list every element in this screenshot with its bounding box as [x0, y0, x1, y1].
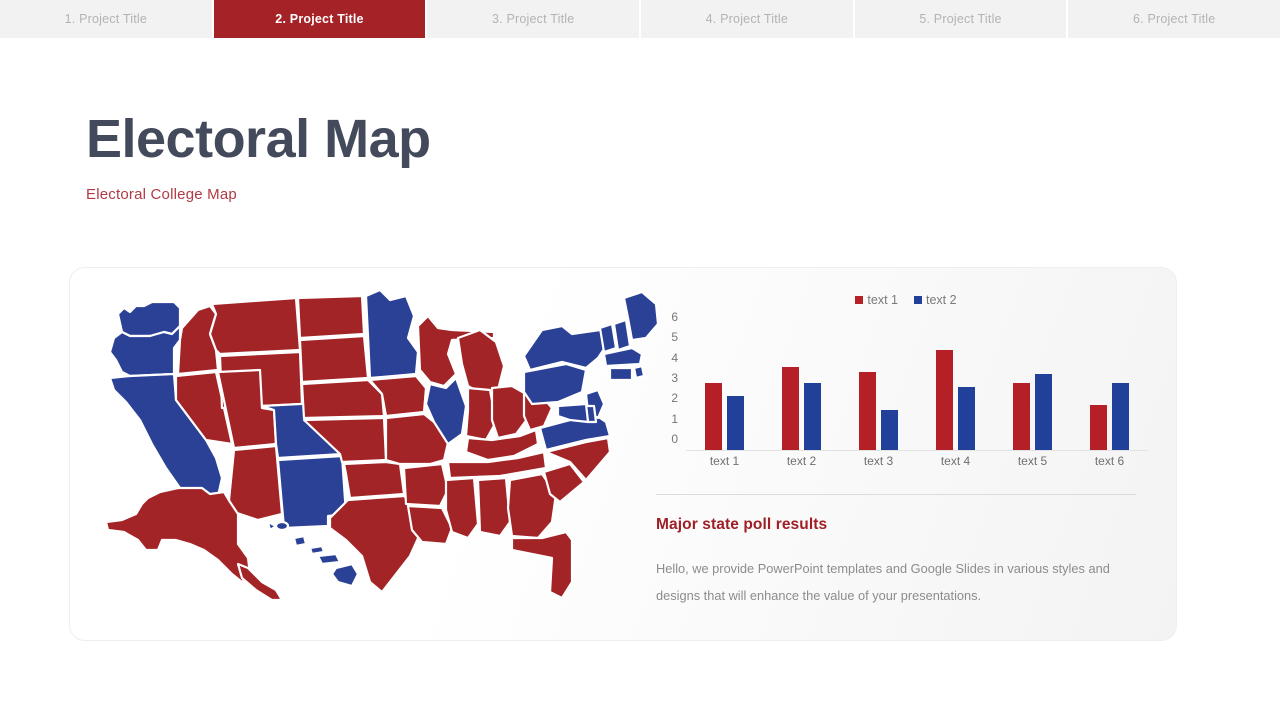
page-title: Electoral Map [86, 110, 431, 169]
y-tick-3: 3 [671, 372, 678, 384]
state-fl [512, 532, 572, 598]
state-mt [210, 298, 300, 354]
bar-series-1[interactable] [1090, 405, 1107, 450]
bar-series-2[interactable] [727, 396, 744, 450]
x-tick-label: text 3 [840, 454, 917, 468]
chart-bars-area [686, 316, 1148, 451]
state-ak [106, 488, 250, 582]
bar-series-2[interactable] [1112, 383, 1129, 450]
us-electoral-map[interactable] [100, 282, 690, 632]
state-mn [366, 290, 418, 378]
bar-series-1[interactable] [1013, 383, 1030, 450]
poll-bar-chart: text 1 text 2 6 5 4 3 2 1 0 text 1text 2… [656, 290, 1156, 495]
info-body: Hello, we provide PowerPoint templates a… [656, 556, 1138, 610]
tab-project-4[interactable]: 4. Project Title [641, 0, 855, 38]
state-ms [446, 478, 478, 538]
bar-series-2[interactable] [958, 387, 975, 450]
y-tick-1: 1 [671, 413, 678, 425]
state-nh [614, 320, 630, 350]
legend-item-series-2: text 2 [914, 293, 957, 307]
state-az [228, 446, 282, 520]
tab-project-3[interactable]: 3. Project Title [427, 0, 641, 38]
x-tick-label: text 4 [917, 454, 994, 468]
tab-project-2[interactable]: 2. Project Title [214, 0, 428, 38]
legend-swatch-blue [914, 296, 922, 304]
bar-series-1[interactable] [782, 367, 799, 450]
state-ar [404, 464, 448, 506]
legend-swatch-red [855, 296, 863, 304]
legend-item-series-1: text 1 [855, 293, 898, 307]
bar-group [763, 316, 840, 450]
y-tick-6: 6 [671, 311, 678, 323]
bar-group [994, 316, 1071, 450]
tab-project-5[interactable]: 5. Project Title [855, 0, 1069, 38]
bar-group [1071, 316, 1148, 450]
us-map-svg [100, 282, 690, 632]
y-tick-2: 2 [671, 392, 678, 404]
state-ct [610, 368, 632, 380]
legend-label-series-2: text 2 [926, 293, 957, 307]
chart-y-axis: 6 5 4 3 2 1 0 [656, 316, 678, 450]
state-wa [118, 302, 180, 336]
y-tick-0: 0 [671, 433, 678, 445]
bar-series-2[interactable] [881, 410, 898, 450]
x-tick-label: text 6 [1071, 454, 1148, 468]
state-ok [344, 462, 404, 498]
bar-group [840, 316, 917, 450]
x-tick-label: text 5 [994, 454, 1071, 468]
chart-x-axis: text 1text 2text 3text 4text 5text 6 [686, 454, 1148, 468]
chart-plot: 6 5 4 3 2 1 0 text 1text 2text 3text 4te… [656, 316, 1156, 486]
bar-series-2[interactable] [804, 383, 821, 450]
bar-series-1[interactable] [859, 372, 876, 450]
tab-project-6[interactable]: 6. Project Title [1068, 0, 1280, 38]
state-ny [524, 326, 610, 370]
content-card: text 1 text 2 6 5 4 3 2 1 0 text 1text 2… [69, 267, 1177, 641]
page-subtitle: Electoral College Map [86, 186, 237, 203]
y-tick-5: 5 [671, 331, 678, 343]
state-mi [458, 330, 504, 394]
bar-series-1[interactable] [936, 350, 953, 451]
state-oh [492, 386, 528, 438]
state-ak-peninsula [238, 564, 282, 600]
top-tab-bar: 1. Project Title 2. Project Title 3. Pro… [0, 0, 1280, 38]
state-al [478, 478, 510, 536]
state-me [624, 292, 658, 340]
bar-series-1[interactable] [705, 383, 722, 450]
state-ri [634, 366, 644, 378]
section-divider [656, 494, 1136, 495]
state-md [558, 404, 588, 422]
tab-project-1[interactable]: 1. Project Title [0, 0, 214, 38]
info-title: Major state poll results [656, 516, 827, 534]
bar-series-2[interactable] [1035, 374, 1052, 450]
state-ne [302, 380, 384, 418]
bar-group [917, 316, 994, 450]
y-tick-4: 4 [671, 352, 678, 364]
x-tick-label: text 2 [763, 454, 840, 468]
bar-group [686, 316, 763, 450]
state-sd [300, 336, 368, 382]
x-tick-label: text 1 [686, 454, 763, 468]
chart-legend: text 1 text 2 [656, 290, 1156, 310]
legend-label-series-1: text 1 [867, 293, 898, 307]
state-nd [298, 296, 364, 338]
